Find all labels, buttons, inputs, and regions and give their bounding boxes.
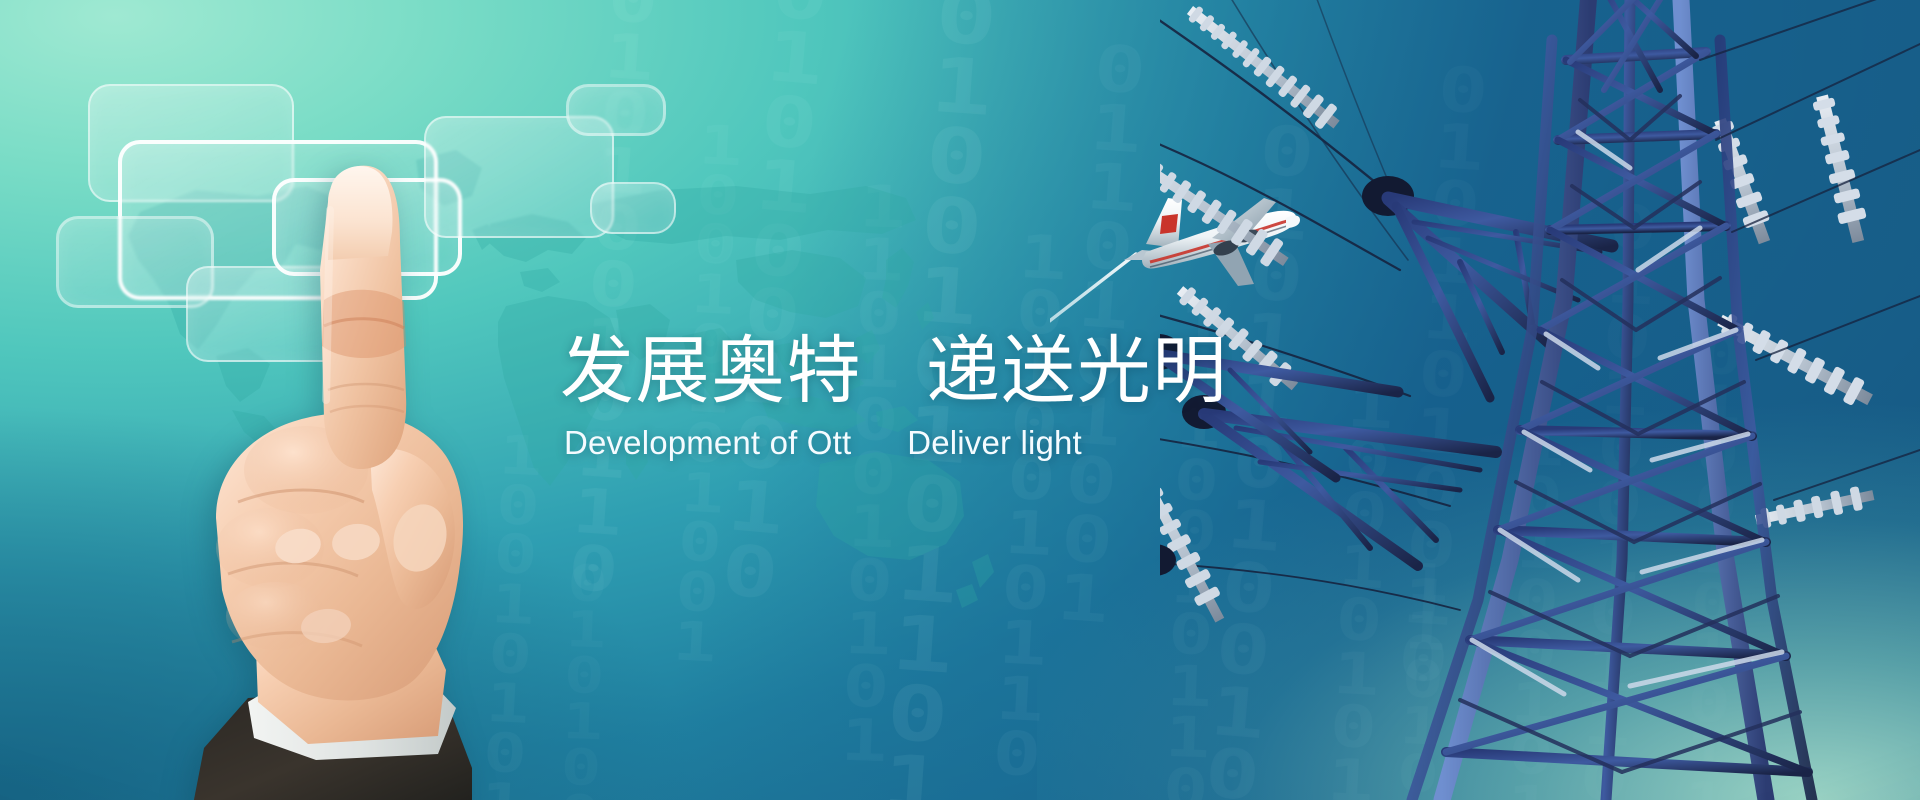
headline-block-2: 递送光明 [926, 332, 1228, 410]
headline-chinese-1: 发展奥特 [560, 332, 862, 410]
subtitle-english-1: Development of Ott [564, 424, 851, 462]
subtitle-english-2: Deliver light [907, 424, 1082, 462]
subtitle-row: Development of Ott Deliver light [560, 424, 1180, 462]
headline-row: 发展奥特 递送光明 [560, 332, 1180, 410]
promo-banner: 0101001011010010101001010100101011010010… [0, 0, 1920, 800]
headline-block-1: 发展奥特 [560, 332, 862, 410]
headline-copy: 发展奥特 递送光明 Development of Ott Deliver lig… [560, 332, 1180, 462]
headline-chinese-2: 递送光明 [926, 332, 1228, 410]
